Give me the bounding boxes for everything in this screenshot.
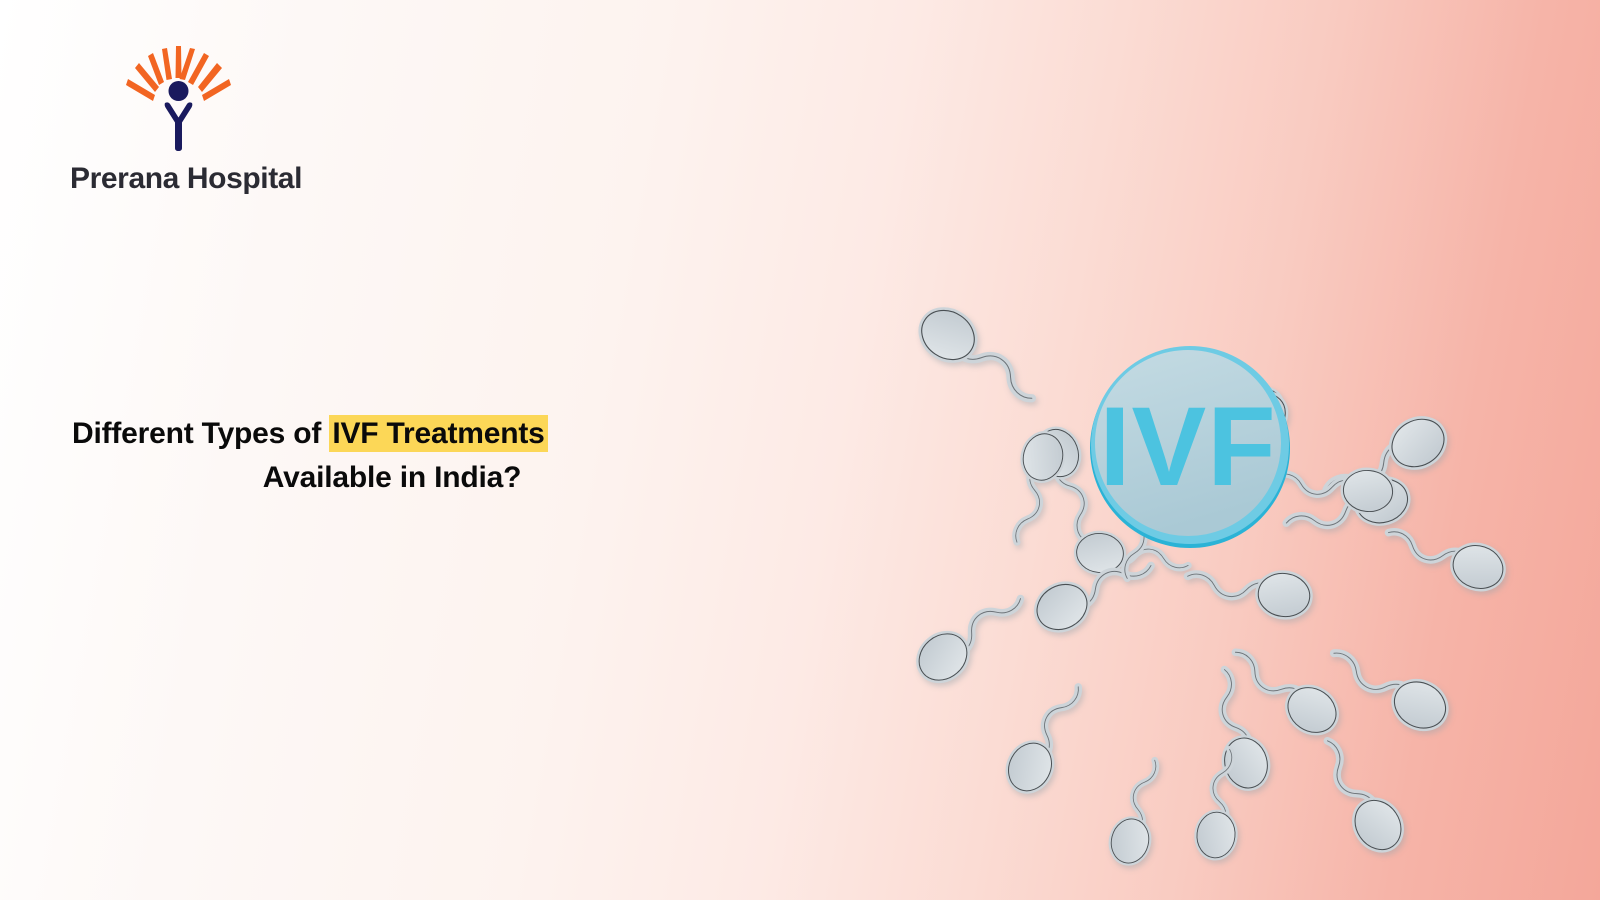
sperm-cell [912,300,1048,412]
ivf-illustration: IVF [830,205,1600,685]
sperm-cell [1003,430,1068,548]
sperm-cell [1273,461,1395,514]
sperm-cell [1000,675,1092,799]
prerana-sunburst-figure-icon [118,44,238,154]
ivf-badge: IVF [1090,346,1290,548]
sperm-cell [1321,638,1454,736]
headline-prefix: Different Types of [72,417,329,450]
brand-logo[interactable]: Prerana Hospital [70,44,370,196]
sperm-cell [1184,560,1313,620]
headline-line-2: Available in India? [72,456,712,500]
ivf-badge-label: IVF [1099,384,1276,509]
logo-wordmark: Prerana Hospital [70,162,370,196]
sperm-cell [1380,517,1508,594]
sperm-cell [1107,755,1169,867]
headline-line-1: Different Types of IVF Treatments [72,412,712,456]
headline-highlight: IVF Treatments [329,415,547,452]
sperm-cell [910,578,1031,689]
ivf-banner: Prerana Hospital Different Types of IVF … [0,0,1600,900]
page-title: Different Types of IVF Treatments Availa… [72,412,712,501]
sperm-cell [1305,732,1410,859]
